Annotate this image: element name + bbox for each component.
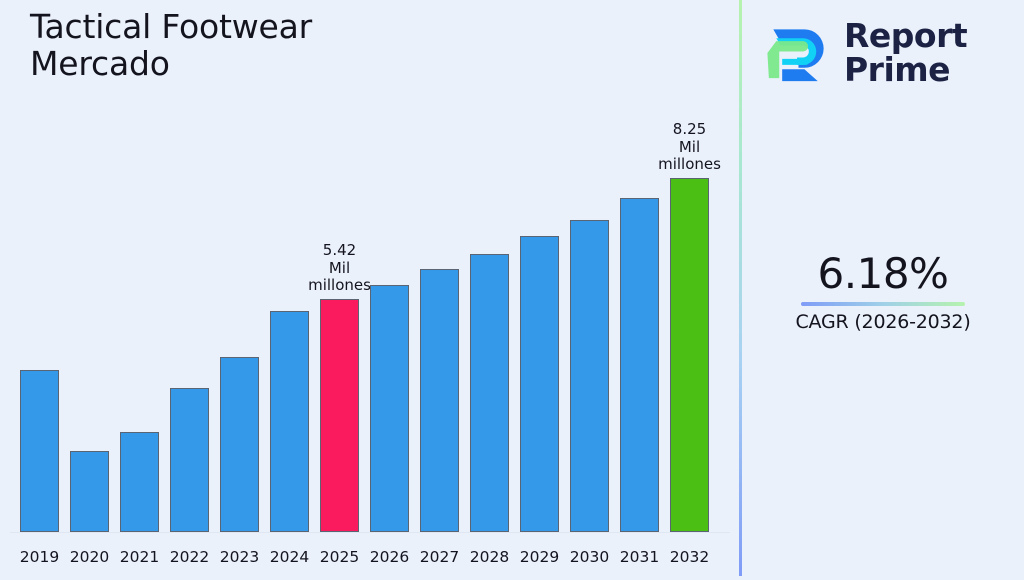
bar-column-2030[interactable]: [570, 220, 609, 532]
x-axis-tick-2032: 2032: [670, 548, 709, 566]
bar-column-2019[interactable]: [20, 370, 59, 532]
bar-2023[interactable]: [220, 357, 259, 532]
x-axis-tick-2031: 2031: [620, 548, 659, 566]
bar-2032[interactable]: [670, 178, 709, 532]
bar-column-2021[interactable]: [120, 432, 159, 532]
x-axis-tick-2020: 2020: [70, 548, 109, 566]
x-axis-tick-2024: 2024: [270, 548, 309, 566]
bar-column-2020[interactable]: [70, 451, 109, 532]
bar-2025[interactable]: [320, 299, 359, 532]
brand-name: Report Prime: [844, 19, 967, 88]
cagr-value: 6.18%: [742, 252, 1024, 296]
bar-2029[interactable]: [520, 236, 559, 532]
bar-2021[interactable]: [120, 432, 159, 532]
bar-chart-plot: 2019202020212022202320245.42 Mil millone…: [0, 0, 740, 576]
brand-logo[interactable]: Report Prime: [760, 10, 1010, 96]
bar-2030[interactable]: [570, 220, 609, 532]
bar-column-2022[interactable]: [170, 388, 209, 532]
bar-column-2032[interactable]: 8.25 Mil millones: [670, 178, 709, 532]
x-axis-tick-2027: 2027: [420, 548, 459, 566]
cagr-caption: CAGR (2026-2032): [742, 311, 1024, 333]
bar-2022[interactable]: [170, 388, 209, 532]
cagr-divider: [801, 302, 965, 306]
cagr-block: 6.18% CAGR (2026-2032): [742, 252, 1024, 333]
x-axis-tick-2026: 2026: [370, 548, 409, 566]
bar-2024[interactable]: [270, 311, 309, 532]
bar-column-2029[interactable]: [520, 236, 559, 532]
x-axis-tick-2022: 2022: [170, 548, 209, 566]
bar-column-2027[interactable]: [420, 269, 459, 532]
x-axis-tick-2023: 2023: [220, 548, 259, 566]
bar-2026[interactable]: [370, 285, 409, 532]
x-axis-tick-2025: 2025: [320, 548, 359, 566]
chart-panel: Tactical Footwear Mercado 20192020202120…: [0, 0, 740, 576]
bar-2028[interactable]: [470, 254, 509, 532]
bar-column-2026[interactable]: [370, 285, 409, 532]
bar-2020[interactable]: [70, 451, 109, 532]
x-axis-tick-2029: 2029: [520, 548, 559, 566]
bar-2019[interactable]: [20, 370, 59, 532]
info-panel: Report Prime 6.18% CAGR (2026-2032): [742, 0, 1024, 576]
x-axis-tick-2030: 2030: [570, 548, 609, 566]
report-prime-logo-icon: [760, 16, 834, 90]
bar-column-2023[interactable]: [220, 357, 259, 532]
bar-column-2031[interactable]: [620, 198, 659, 532]
bar-column-2028[interactable]: [470, 254, 509, 532]
bar-2031[interactable]: [620, 198, 659, 532]
bar-column-2025[interactable]: 5.42 Mil millones: [320, 299, 359, 532]
bar-2027[interactable]: [420, 269, 459, 532]
x-axis-tick-2028: 2028: [470, 548, 509, 566]
x-axis-tick-2021: 2021: [120, 548, 159, 566]
x-axis-tick-2019: 2019: [20, 548, 59, 566]
bar-column-2024[interactable]: [270, 311, 309, 532]
bar-value-label-2032: 8.25 Mil millones: [647, 121, 733, 174]
x-axis-line: [10, 532, 730, 533]
